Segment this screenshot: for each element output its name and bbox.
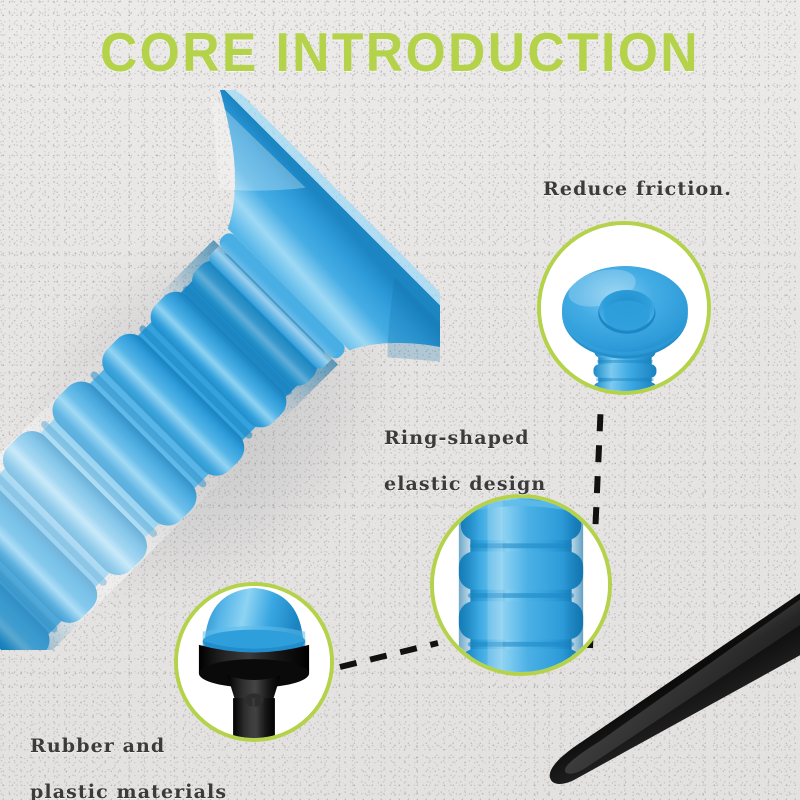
caption-reduce-friction: Reduce friction.: [543, 178, 732, 200]
infographic-canvas: CORE INTRODUCTION Reduce friction. Ring-…: [0, 0, 800, 800]
caption-reduce-friction-line1: Reduce friction.: [543, 178, 732, 200]
caption-rubber-plastic-line1: Rubber and: [30, 723, 227, 769]
caption-ring-shaped-line2: elastic design: [384, 461, 546, 507]
blue-cap-black-stake-detail: [178, 586, 330, 738]
caption-rubber-plastic-line2: plastic materials: [30, 769, 227, 800]
page-title: CORE INTRODUCTION: [24, 22, 776, 82]
callout-circle-ring-shaped[interactable]: [430, 494, 612, 676]
caption-ring-shaped: Ring-shaped elastic design: [384, 415, 546, 507]
caption-rubber-plastic: Rubber and plastic materials: [30, 723, 227, 800]
hero-product-image: [0, 90, 440, 650]
callout-circle-reduce-friction[interactable]: [537, 221, 711, 395]
ribbed-rings-detail: [434, 498, 608, 672]
funnel-top-view-detail: [541, 225, 707, 391]
caption-ring-shaped-line1: Ring-shaped: [384, 415, 546, 461]
callout-circle-rubber-plastic[interactable]: [174, 582, 334, 742]
